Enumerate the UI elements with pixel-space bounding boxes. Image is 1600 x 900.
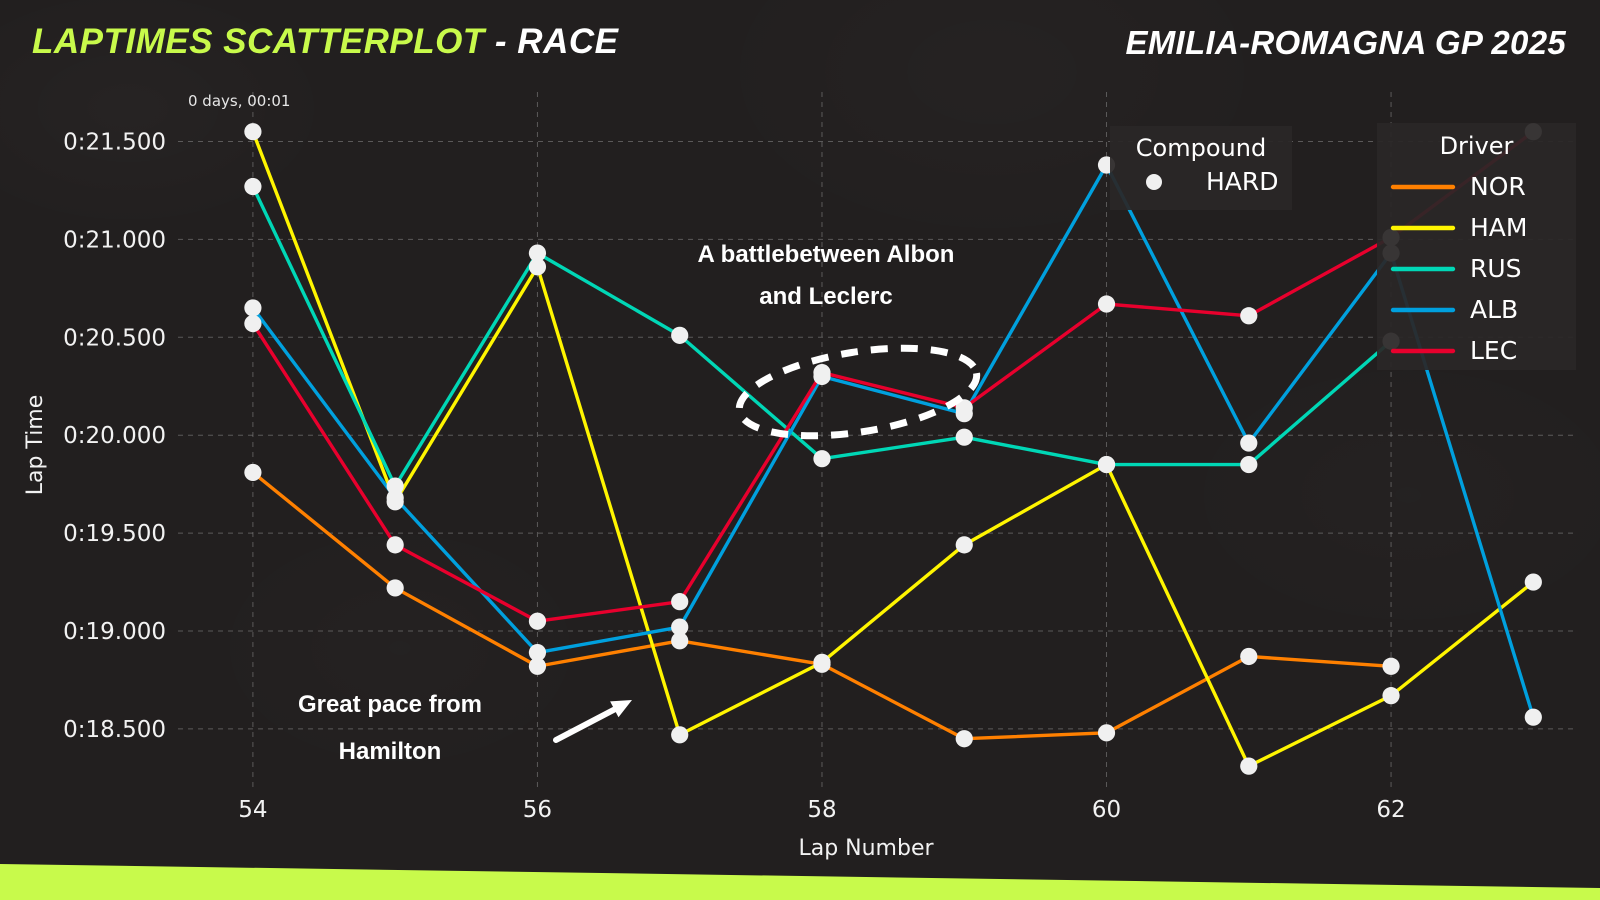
bottom-accent-bar — [0, 850, 1600, 900]
compound-legend-title: Compound — [1136, 134, 1266, 162]
data-point-alb-lap57[interactable] — [671, 619, 688, 636]
y-axis-label: Lap Time — [23, 395, 48, 496]
y-axis-offset-label: 0 days, 00:01 — [188, 92, 290, 110]
driver-legend-title: Driver — [1440, 132, 1514, 160]
data-point-lec-lap57[interactable] — [671, 593, 688, 610]
y-tick-label: 0:18.500 — [63, 717, 166, 743]
data-point-lec-lap56[interactable] — [529, 613, 546, 630]
data-point-rus-lap54[interactable] — [244, 178, 261, 195]
driver-legend-box — [1377, 123, 1576, 370]
series-layer — [253, 132, 1533, 766]
x-tick-label: 62 — [1376, 797, 1405, 823]
driver-legend-label-ham[interactable]: HAM — [1470, 213, 1527, 242]
data-point-nor-lap61[interactable] — [1240, 648, 1257, 665]
x-tick-label: 54 — [238, 797, 267, 823]
y-tick-label: 0:20.000 — [63, 423, 166, 449]
data-point-ham-lap59[interactable] — [956, 536, 973, 553]
data-point-nor-lap60[interactable] — [1098, 724, 1115, 741]
data-point-rus-lap60[interactable] — [1098, 456, 1115, 473]
data-point-alb-lap55[interactable] — [387, 489, 404, 506]
x-tick-label: 58 — [807, 797, 836, 823]
chart-container: 0:21.5000:21.0000:20.5000:20.0000:19.500… — [0, 0, 1600, 900]
data-point-nor-lap59[interactable] — [956, 730, 973, 747]
data-point-nor-lap54[interactable] — [244, 464, 261, 481]
data-point-nor-lap62[interactable] — [1382, 658, 1399, 675]
data-point-lec-lap55[interactable] — [387, 536, 404, 553]
data-point-rus-lap59[interactable] — [956, 429, 973, 446]
laptimes-scatterplot-svg: 0:21.5000:21.0000:20.5000:20.0000:19.500… — [0, 0, 1600, 900]
legend-layer[interactable]: CompoundHARDDriverNORHAMRUSALBLEC — [1110, 123, 1576, 370]
y-tick-label: 0:19.000 — [63, 619, 166, 645]
data-point-ham-lap62[interactable] — [1382, 687, 1399, 704]
compound-legend-label-hard[interactable]: HARD — [1206, 167, 1279, 196]
y-tick-label: 0:19.500 — [63, 521, 166, 547]
driver-legend-label-nor[interactable]: NOR — [1470, 172, 1526, 201]
data-point-ham-lap57[interactable] — [671, 726, 688, 743]
data-point-rus-lap58[interactable] — [813, 450, 830, 467]
battle-annotation-text: A battlebetween Albon — [698, 241, 955, 268]
data-point-alb-lap63[interactable] — [1525, 709, 1542, 726]
data-point-alb-lap54[interactable] — [244, 299, 261, 316]
data-point-rus-lap57[interactable] — [671, 327, 688, 344]
driver-legend-label-alb[interactable]: ALB — [1470, 295, 1518, 324]
hamilton-annotation-arrow-shaft — [556, 705, 623, 740]
data-point-lec-lap54[interactable] — [244, 315, 261, 332]
data-point-ham-lap61[interactable] — [1240, 758, 1257, 775]
data-point-lec-lap61[interactable] — [1240, 307, 1257, 324]
series-line-lec — [253, 132, 1533, 622]
driver-legend-label-rus[interactable]: RUS — [1470, 254, 1522, 283]
data-point-ham-lap58[interactable] — [813, 654, 830, 671]
x-tick-label: 56 — [523, 797, 552, 823]
bottom-accent-shape — [0, 850, 1600, 900]
y-tick-label: 0:20.500 — [63, 325, 166, 351]
data-point-lec-lap60[interactable] — [1098, 295, 1115, 312]
grid-layer — [178, 92, 1576, 790]
data-point-lec-lap58[interactable] — [813, 364, 830, 381]
data-point-ham-lap54[interactable] — [244, 123, 261, 140]
x-tick-label: 60 — [1092, 797, 1121, 823]
compound-legend-marker-hard[interactable] — [1146, 174, 1162, 190]
battle-highlight-ellipse — [733, 334, 983, 451]
data-point-nor-lap55[interactable] — [387, 579, 404, 596]
hamilton-annotation-text: Great pace from — [298, 691, 482, 718]
y-tick-label: 0:21.500 — [63, 129, 166, 155]
data-point-ham-lap63[interactable] — [1525, 573, 1542, 590]
data-point-alb-lap56[interactable] — [529, 644, 546, 661]
hamilton-annotation-text: Hamilton — [339, 738, 442, 765]
data-point-rus-lap61[interactable] — [1240, 456, 1257, 473]
data-point-alb-lap61[interactable] — [1240, 434, 1257, 451]
driver-legend-label-lec[interactable]: LEC — [1470, 336, 1517, 365]
battle-annotation-text: and Leclerc — [759, 283, 892, 310]
data-point-rus-lap56[interactable] — [529, 245, 546, 262]
y-tick-label: 0:21.000 — [63, 227, 166, 253]
